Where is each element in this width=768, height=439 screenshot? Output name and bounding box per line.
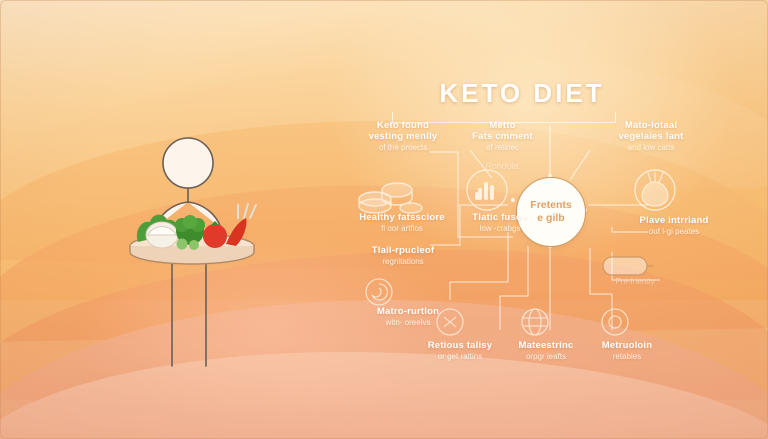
infographic-poster: KETO DIET Fretents e gilb xyxy=(0,0,768,439)
label-title: Mato-lotaal xyxy=(592,120,710,131)
label-subtitle: retables xyxy=(578,352,676,362)
label-title: Tlatic fuse - xyxy=(452,212,548,223)
label-subtitle: ouf l-gi peates xyxy=(618,227,730,237)
label-title: Matro-rurtlon xyxy=(350,306,466,317)
label-subtitle: witn- oreelvs xyxy=(350,318,466,328)
label-title: Metruoloin xyxy=(578,340,676,351)
label-plave-intrriand: Plave intrriand ouf l-gi peates xyxy=(618,215,730,237)
label-subtitle: fi oor artfios xyxy=(338,224,466,234)
label-pre-friendy: Pre-friendy xyxy=(598,276,672,287)
label-metto-fats: Metto Fats cmment of retinec xyxy=(450,120,555,153)
label-title: Keto found xyxy=(348,120,458,131)
onion-icon xyxy=(633,166,677,217)
label-keto-found: Keto found vesting menlly of the proects xyxy=(348,120,458,153)
label-title: Tlail-rpucleof xyxy=(348,245,458,256)
label-keto-total-vegetables: Mato-lotaal vegelaies lant and low catts xyxy=(592,120,710,153)
label-title: Rondula xyxy=(462,161,542,171)
label-subtitle: low -crabgs xyxy=(452,224,548,234)
label-title: Healthy fatssciore xyxy=(338,212,466,223)
label-tlail-rpucleof: Tlail-rpucleof regnitations xyxy=(348,245,458,267)
label-rondula: Rondula xyxy=(462,160,542,171)
hub-line-1: Fretents xyxy=(530,199,571,212)
globe-icon xyxy=(521,308,549,341)
label-title: Plave intrriand xyxy=(618,215,730,226)
label-static-fuse: Tlatic fuse - low -crabgs xyxy=(452,212,548,234)
label-title-2: vegelaies lant xyxy=(592,131,710,142)
label-healthy-fats: Healthy fatssciore fi oor artfios xyxy=(338,212,466,234)
circle-icon xyxy=(601,308,629,341)
label-matro-rurtlon: Matro-rurtlon witn- oreelvs xyxy=(350,306,466,328)
hand-bars-icon xyxy=(465,168,509,217)
label-subtitle: of retinec xyxy=(450,143,555,153)
label-subtitle: and low catts xyxy=(592,143,710,153)
label-title-2: Fats cmment xyxy=(450,131,555,142)
label-subtitle: of the proects xyxy=(348,143,458,153)
label-title-2: vesting menlly xyxy=(348,131,458,142)
label-title: Pre-friendy xyxy=(598,277,672,287)
label-subtitle: regnitations xyxy=(348,257,458,267)
label-metruoloin: Metruoloin retables xyxy=(578,340,676,362)
label-title: Metto xyxy=(450,120,555,131)
